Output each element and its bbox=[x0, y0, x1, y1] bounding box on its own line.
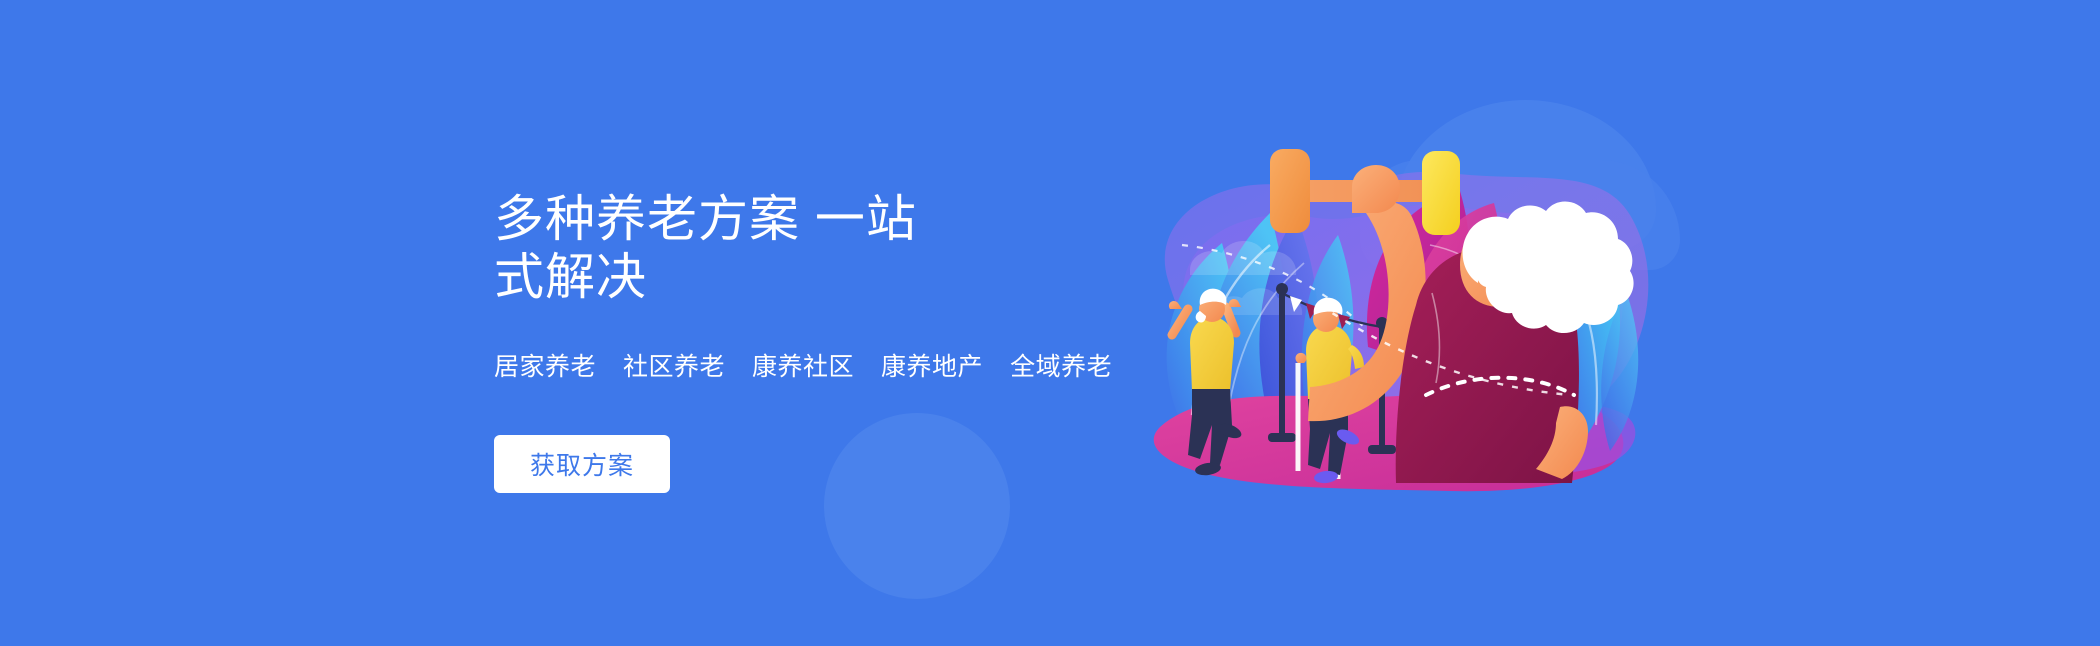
page-title: 多种养老方案 一站 式解决 bbox=[494, 190, 1134, 306]
service-tag-community-care[interactable]: 社区养老 bbox=[623, 352, 725, 382]
service-tag-regional-care[interactable]: 全域养老 bbox=[1010, 352, 1112, 382]
main-figure-fist bbox=[1352, 165, 1400, 213]
service-tag-home-care[interactable]: 居家养老 bbox=[494, 352, 596, 382]
service-tag-wellness-community[interactable]: 康养社区 bbox=[752, 352, 854, 382]
get-plan-button[interactable]: 获取方案 bbox=[494, 435, 670, 493]
hero-banner: 多种养老方案 一站 式解决 居家养老 社区养老 康养社区 康养地产 全域养老 获… bbox=[0, 0, 2100, 646]
elderly-fitness-illustration bbox=[1130, 95, 1660, 525]
service-tag-list: 居家养老 社区养老 康养社区 康养地产 全域养老 bbox=[494, 352, 1134, 382]
cta-container: 获取方案 bbox=[494, 435, 1134, 493]
hero-text-column: 多种养老方案 一站 式解决 居家养老 社区养老 康养社区 康养地产 全域养老 获… bbox=[494, 190, 1134, 493]
service-tag-wellness-realestate[interactable]: 康养地产 bbox=[881, 352, 983, 382]
